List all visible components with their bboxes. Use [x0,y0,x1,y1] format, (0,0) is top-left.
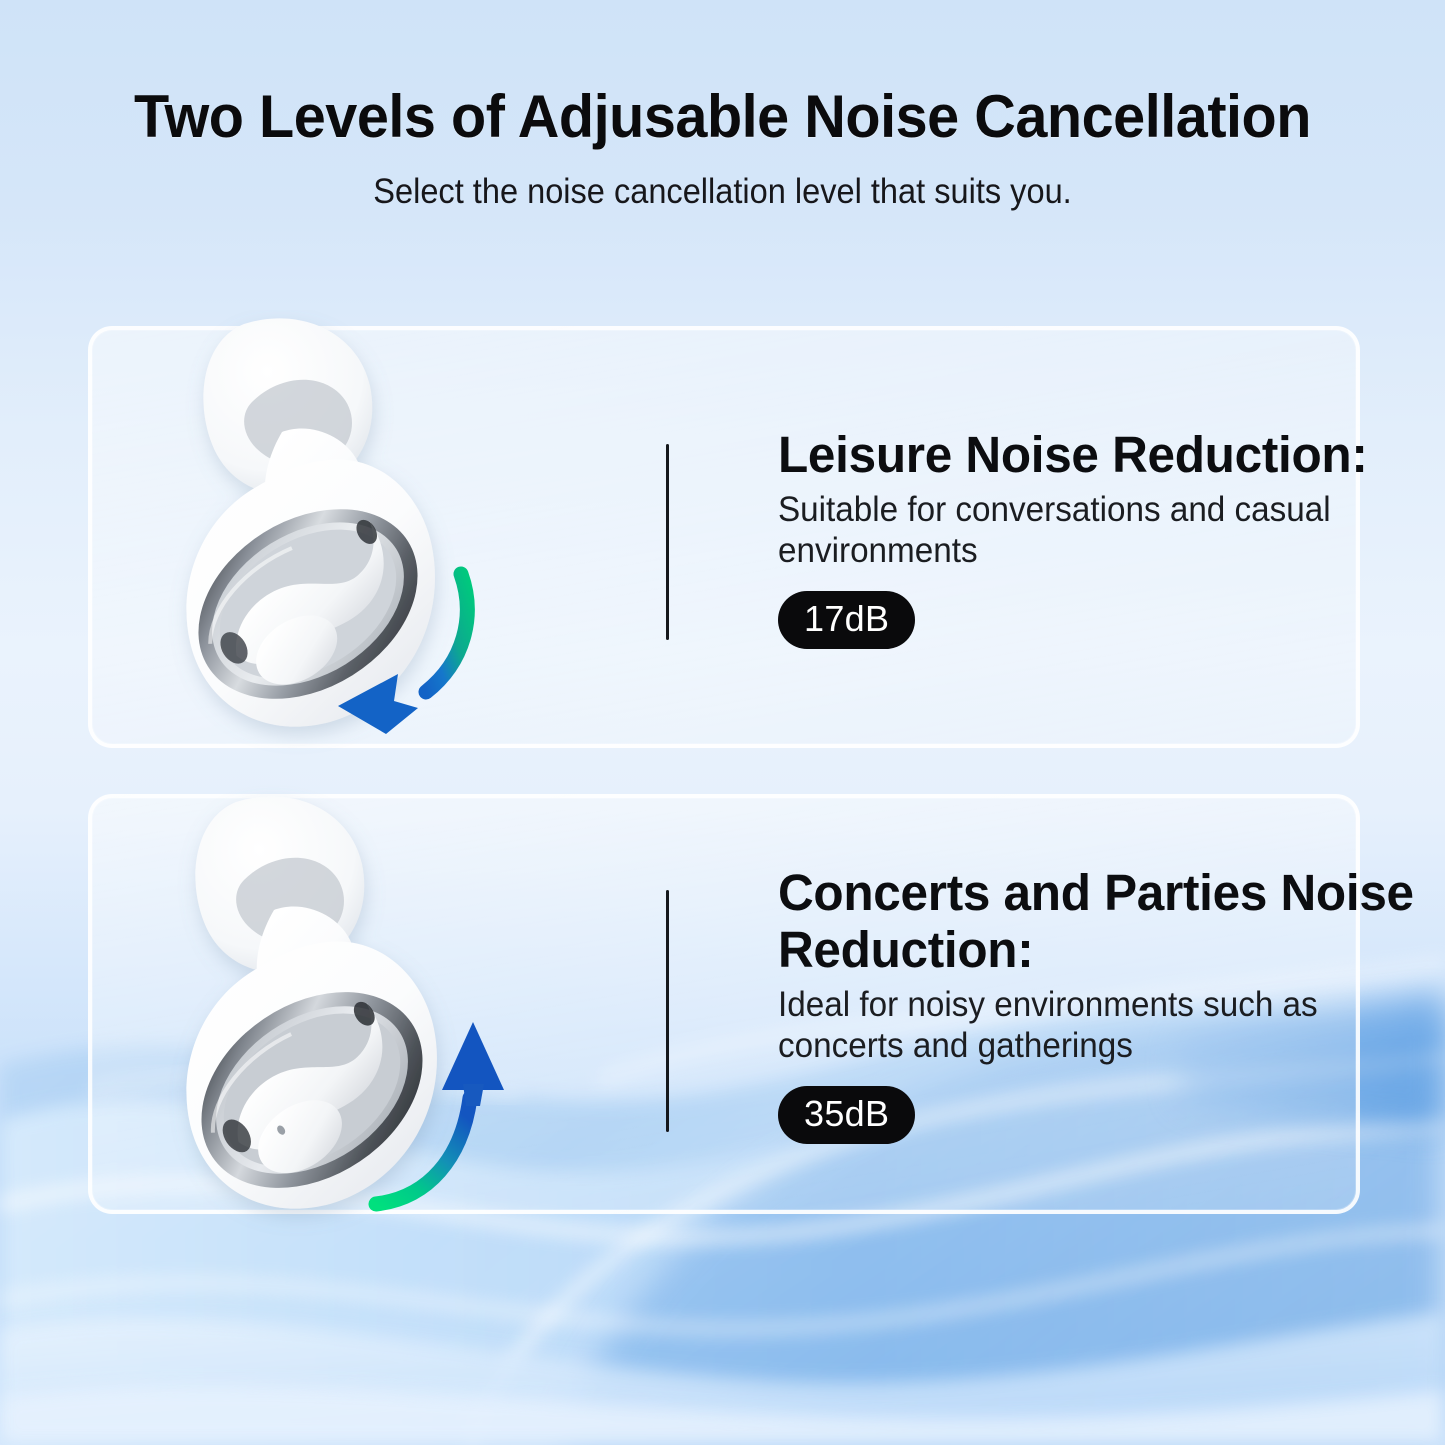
card-heading: Leisure Noise Reduction: [778,426,1445,483]
card-text-block-leisure: Leisure Noise Reduction: Suitable for co… [666,330,1445,744]
card-description: Suitable for conversations and casual en… [778,489,1424,571]
page-header: Two Levels of Adjusable Noise Cancellati… [0,0,1445,212]
noise-level-card-leisure[interactable]: Leisure Noise Reduction: Suitable for co… [88,326,1360,748]
page-subtitle: Select the noise cancellation level that… [51,150,1395,212]
product-feature-page: Two Levels of Adjusable Noise Cancellati… [0,0,1445,1445]
vertical-divider [666,444,669,640]
noise-level-card-concerts[interactable]: Concerts and Parties Noise Reduction: Id… [88,794,1360,1214]
card-text-block-concerts: Concerts and Parties Noise Reduction: Id… [666,798,1445,1210]
card-description: Ideal for noisy environments such as con… [778,984,1424,1066]
earbud-illustration-concerts [92,798,582,1210]
earbud-rotate-down-icon [132,310,552,770]
earbud-illustration-leisure [92,330,582,744]
card-heading: Concerts and Parties Noise Reduction: [778,864,1445,978]
db-badge: 35dB [778,1086,915,1144]
earbud-rotate-up-icon [132,784,552,1244]
vertical-divider [666,890,669,1132]
db-badge: 17dB [778,591,915,649]
page-title: Two Levels of Adjusable Noise Cancellati… [29,0,1416,150]
